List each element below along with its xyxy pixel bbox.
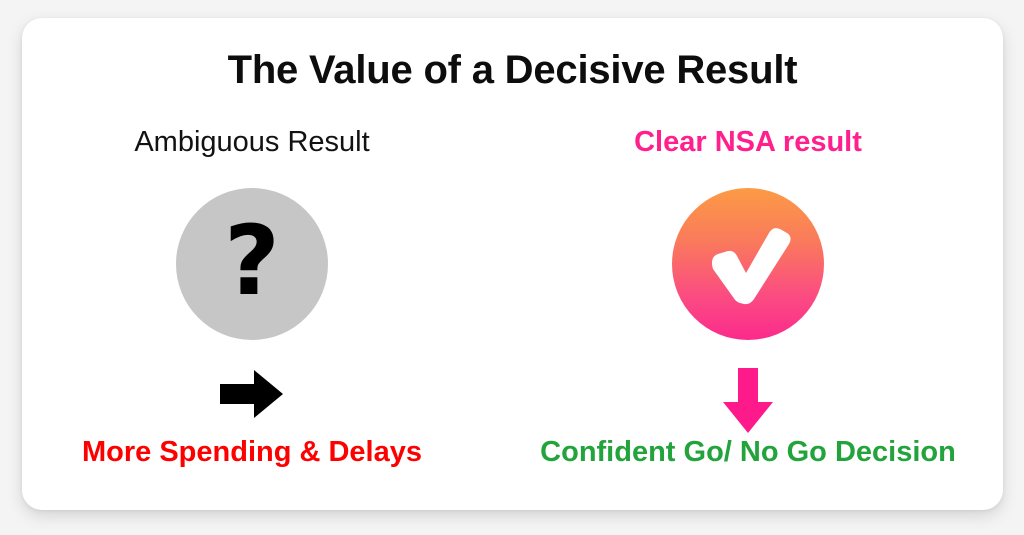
column-clear: Clear NSA result Confident Go/ No Go Dec… bbox=[518, 110, 978, 490]
page-title: The Value of a Decisive Result bbox=[22, 48, 1003, 93]
question-mark-icon: ? bbox=[224, 213, 280, 309]
badge-wrap-clear bbox=[518, 188, 978, 343]
slide-card: The Value of a Decisive Result Ambiguous… bbox=[22, 18, 1003, 510]
question-badge: ? bbox=[176, 188, 328, 340]
arrow-wrap-ambiguous bbox=[22, 360, 482, 432]
outcome-label-ambiguous: More Spending & Delays bbox=[22, 436, 482, 469]
arrow-right-icon bbox=[220, 368, 284, 420]
badge-wrap-ambiguous: ? bbox=[22, 188, 482, 343]
arrow-down-icon bbox=[722, 368, 774, 434]
check-badge bbox=[672, 188, 824, 340]
column-heading-clear: Clear NSA result bbox=[518, 126, 978, 159]
outcome-label-clear: Confident Go/ No Go Decision bbox=[518, 436, 978, 469]
check-mark-icon bbox=[702, 223, 794, 305]
column-heading-ambiguous: Ambiguous Result bbox=[22, 126, 482, 159]
slide-canvas: The Value of a Decisive Result Ambiguous… bbox=[0, 0, 1024, 535]
column-ambiguous: Ambiguous Result ? More Spending & Delay… bbox=[22, 110, 482, 490]
comparison-columns: Ambiguous Result ? More Spending & Delay… bbox=[22, 110, 1003, 490]
arrow-wrap-clear bbox=[518, 360, 978, 432]
